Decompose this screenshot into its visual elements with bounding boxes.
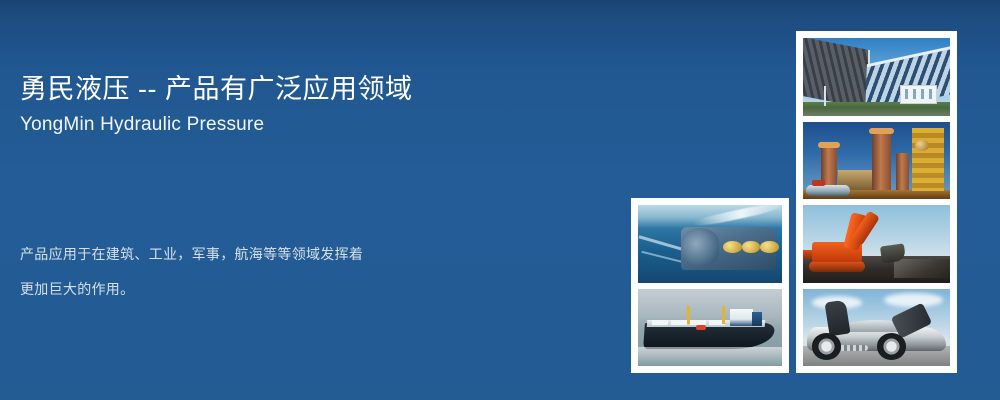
gallery-marine [631, 198, 789, 373]
gun-turret-drum [681, 228, 718, 267]
photo-naval-deck-gun[interactable] [638, 205, 782, 283]
shell-1 [723, 241, 742, 253]
ship-bridge [730, 309, 753, 326]
red-valve-unit [812, 180, 825, 185]
rubble-pile [894, 259, 950, 278]
description-line-1: 产品应用于在建筑、工业，军事，航海等等领域发挥着 [20, 237, 540, 272]
photo-concept-car[interactable] [803, 289, 950, 367]
excavator-track [809, 261, 865, 272]
chimney-cap-1 [818, 142, 840, 147]
description-line-2: 更加巨大的作用。 [20, 272, 540, 307]
photo-architecture[interactable] [803, 38, 950, 116]
deck-crane-1 [687, 306, 690, 325]
ship-funnel [752, 312, 762, 326]
chimney-2 [872, 132, 891, 189]
cargo-hatch-1 [652, 320, 668, 325]
cloud-2 [884, 293, 943, 307]
gallery-industrial [796, 31, 957, 373]
rear-wheel [877, 333, 906, 359]
banner-description: 产品应用于在建筑、工业，军事，航海等等领域发挥着 更加巨大的作用。 [20, 237, 540, 307]
photo-cargo-ship[interactable] [638, 289, 782, 367]
chimney-3 [896, 153, 909, 190]
yellow-pipe-rig [912, 128, 944, 192]
light-pole [824, 86, 826, 106]
white-annex-building [900, 85, 937, 104]
photo-excavator[interactable] [803, 205, 950, 283]
page-subtitle: YongMin Hydraulic Pressure [20, 113, 620, 137]
front-wheel [812, 333, 841, 359]
deck-equipment-red [696, 325, 706, 330]
chimney-cap-2 [869, 128, 894, 134]
horizontal-tank [806, 185, 850, 196]
deck-crane-2 [722, 306, 725, 325]
ship-wake [638, 347, 782, 366]
page-title: 勇民液压 -- 产品有广泛应用领域 [20, 72, 620, 106]
hydraulic-applications-banner: 勇民液压 -- 产品有广泛应用领域 YongMin Hydraulic Pres… [0, 0, 1000, 400]
photo-petrochemical-plant[interactable] [803, 122, 950, 200]
banner-text-block: 勇民液压 -- 产品有广泛应用领域 YongMin Hydraulic Pres… [20, 72, 620, 137]
building-left-facade [803, 38, 870, 109]
cargo-hatch-2 [671, 320, 687, 325]
